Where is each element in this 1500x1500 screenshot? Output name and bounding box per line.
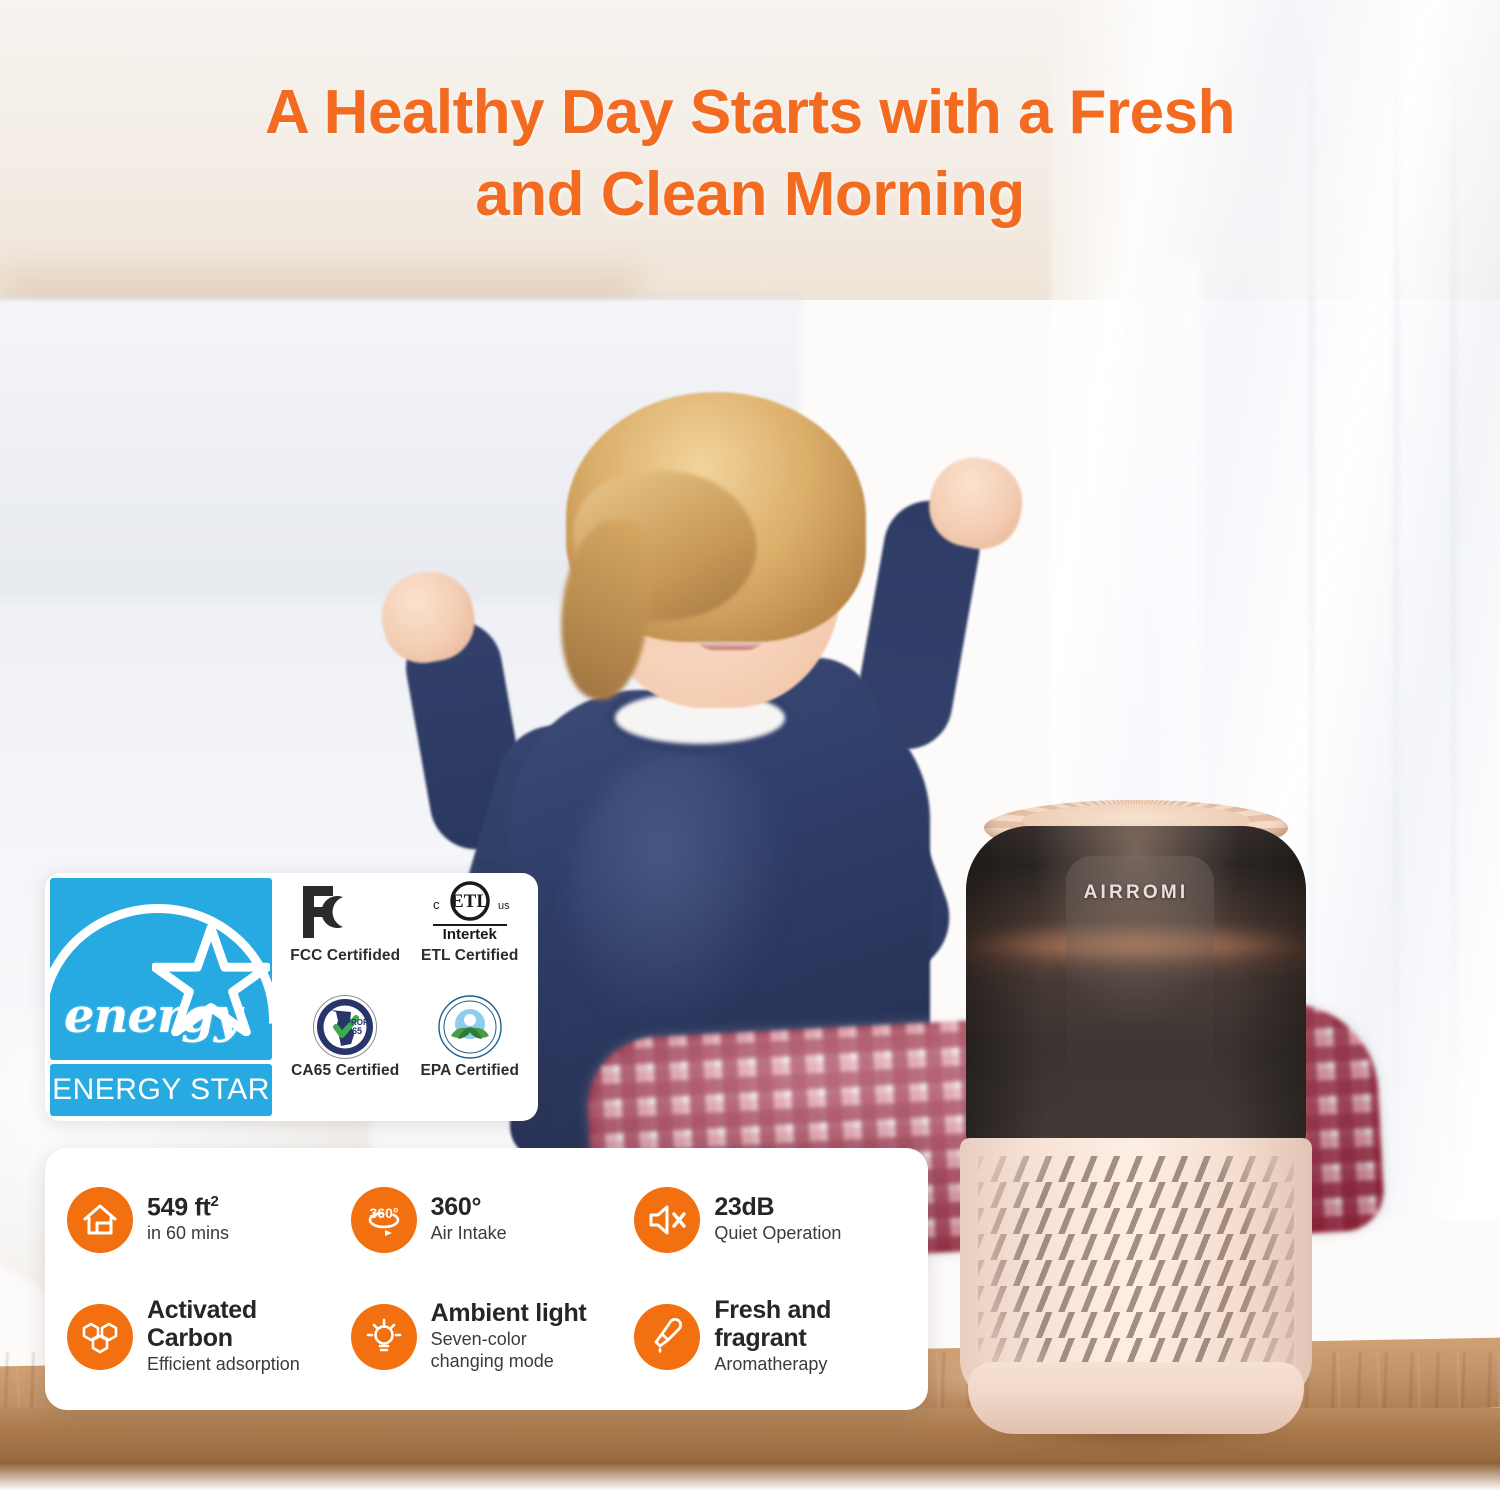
svg-text:us: us — [498, 900, 510, 912]
air-intake-grill — [978, 1156, 1294, 1368]
svg-text:360°: 360° — [369, 1205, 398, 1221]
feature-ambient-light-sub1: Seven-color — [431, 1329, 587, 1351]
feature-activated-carbon: Activated Carbon Efficient adsorption — [67, 1281, 347, 1392]
feature-coverage: 549 ft2 in 60 mins — [67, 1164, 347, 1275]
feature-coverage-sup: 2 — [211, 1193, 219, 1210]
feature-ambient-light-title: Ambient light — [431, 1299, 587, 1327]
feature-coverage-title: 549 ft — [147, 1193, 211, 1221]
mute-speaker-icon — [634, 1187, 700, 1253]
cert-ca65-label: CA65 Certified — [291, 1062, 399, 1080]
purifier-base — [968, 1362, 1304, 1434]
svg-text:65: 65 — [352, 1026, 362, 1036]
page-title: A Healthy Day Starts with a Fresh and Cl… — [0, 72, 1500, 236]
epa-seal-icon — [437, 994, 503, 1060]
feature-noise: 23dB Quiet Operation — [634, 1164, 914, 1275]
feature-activated-carbon-sub: Efficient adsorption — [147, 1354, 347, 1376]
feature-air-intake-title: 360° — [431, 1193, 482, 1221]
curtain-light — [1080, 260, 1200, 820]
cert-fcc-label: FCC Certifided — [290, 947, 400, 965]
feature-noise-sub: Quiet Operation — [714, 1223, 841, 1245]
feature-ambient-light-sub2: changing mode — [431, 1351, 587, 1373]
feature-air-intake: 360° 360° Air Intake — [351, 1164, 631, 1275]
fcc-logo-icon — [299, 884, 391, 940]
feature-air-intake-sub: Air Intake — [431, 1223, 507, 1245]
headline-line-1: A Healthy Day Starts with a Fresh — [265, 78, 1235, 147]
svg-text:c: c — [433, 897, 440, 912]
energy-star-outline-icon — [152, 924, 270, 1036]
feature-noise-title: 23dB — [714, 1193, 774, 1221]
house-icon — [67, 1187, 133, 1253]
air-purifier-product: AIRROMI — [960, 800, 1312, 1440]
feature-ambient-light: Ambient light Seven-color changing mode — [351, 1281, 631, 1392]
headline-line-2: and Clean Morning — [0, 154, 1500, 236]
cert-ca65: PROP 65 CA65 Certified — [283, 996, 408, 1111]
rotation-360-icon: 360° — [351, 1187, 417, 1253]
product-brand-label: AIRROMI — [960, 882, 1312, 904]
intertek-wordmark: Intertek — [443, 926, 497, 943]
features-card: 549 ft2 in 60 mins 360° 360° Air Intake … — [45, 1148, 928, 1410]
cert-etl: c ETL us Intertek ETL Certified — [408, 881, 533, 996]
cert-fcc: FCC Certifided — [283, 881, 408, 996]
svg-text:ETL: ETL — [451, 891, 489, 912]
certification-card: energy ENERGY STAR FCC Certifided — [45, 873, 538, 1121]
cert-epa-label: EPA Certified — [420, 1062, 519, 1080]
cert-etl-label: ETL Certified — [421, 947, 518, 965]
feature-activated-carbon-title: Activated Carbon — [147, 1296, 257, 1352]
feature-coverage-sub: in 60 mins — [147, 1223, 229, 1245]
energy-star-wordmark: ENERGY STAR — [52, 1073, 270, 1107]
dropper-icon — [634, 1304, 700, 1370]
prop65-compliant-seal-icon: PROP 65 — [312, 994, 378, 1060]
energy-star-badge: energy ENERGY STAR — [45, 873, 277, 1121]
etl-intertek-logo-icon: c ETL us — [427, 881, 513, 923]
lightbulb-icon — [351, 1304, 417, 1370]
cert-epa: EPA Certified — [408, 996, 533, 1111]
feature-aromatherapy: Fresh and fragrant Aromatherapy — [634, 1281, 914, 1392]
feature-aromatherapy-title: Fresh and fragrant — [714, 1296, 831, 1352]
feature-aromatherapy-sub: Aromatherapy — [714, 1354, 914, 1376]
honeycomb-icon — [67, 1304, 133, 1370]
